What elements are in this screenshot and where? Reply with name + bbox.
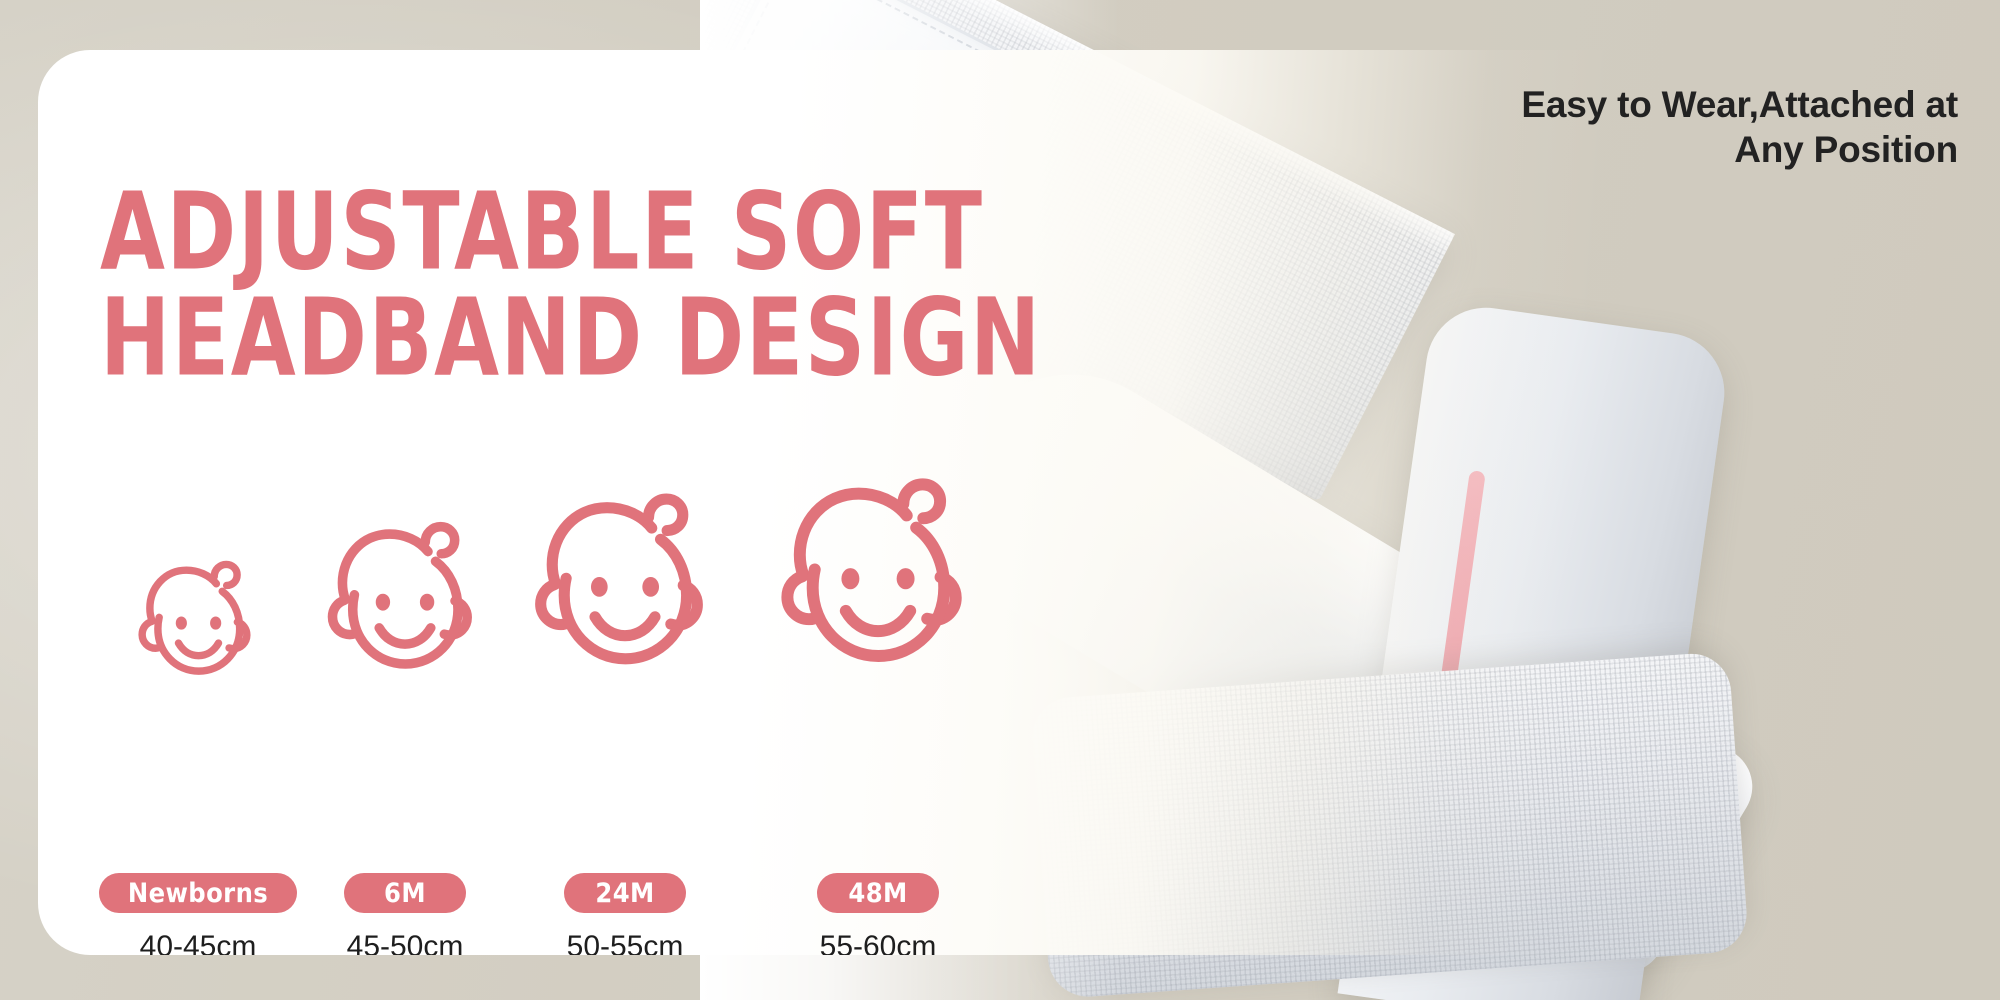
size-badge-48m[interactable]: 48M <box>817 873 939 913</box>
content-card: ADJUSTABLE SOFT HEADBAND DESIGN <box>38 50 1968 955</box>
size-icon-newborns <box>127 553 270 696</box>
tagline: Easy to Wear,Attached at Any Position <box>1521 82 1958 172</box>
size-measurement-newborns: 40-45cm <box>88 930 308 955</box>
size-icon-row <box>98 446 1028 696</box>
baby-face-icon <box>127 553 270 696</box>
size-icon-48m <box>763 466 993 696</box>
headline-line-1: ADJUSTABLE SOFT <box>100 178 1042 284</box>
page-title: ADJUSTABLE SOFT HEADBAND DESIGN <box>100 178 1042 391</box>
size-icon-24m <box>518 482 732 696</box>
size-label-row: 40-45cm45-50cm50-55cm55-60cm <box>98 930 1028 955</box>
size-icon-6m <box>313 512 497 696</box>
size-measurement-6m: 45-50cm <box>295 930 515 955</box>
baby-face-icon <box>763 466 993 696</box>
size-badge-newborns[interactable]: Newborns <box>99 873 297 913</box>
tagline-line-2: Any Position <box>1521 127 1958 172</box>
size-measurement-24m: 50-55cm <box>515 930 735 955</box>
baby-face-icon <box>518 482 732 696</box>
size-badge-6m[interactable]: 6M <box>344 873 466 913</box>
baby-face-icon <box>313 512 497 696</box>
headline-line-2: HEADBAND DESIGN <box>100 284 1042 390</box>
tagline-line-1: Easy to Wear,Attached at <box>1521 82 1958 127</box>
size-badge-row: Newborns6M24M48M <box>98 873 1028 917</box>
size-measurement-48m: 55-60cm <box>768 930 988 955</box>
size-badge-24m[interactable]: 24M <box>564 873 686 913</box>
